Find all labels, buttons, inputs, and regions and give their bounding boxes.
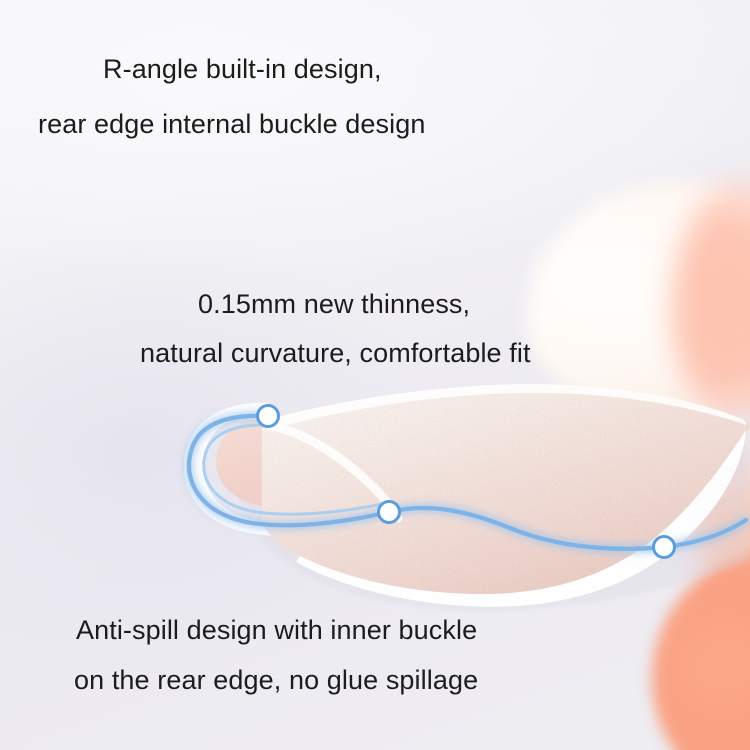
caption-top-line-2: rear edge internal buckle design bbox=[38, 103, 425, 145]
caption-bottom-line-1: Anti-spill design with inner buckle bbox=[76, 609, 477, 651]
marker-inner-buckle[interactable] bbox=[379, 502, 400, 523]
caption-top-line-1: R-angle built-in design, bbox=[103, 48, 382, 90]
marker-rear-edge[interactable] bbox=[654, 537, 675, 558]
caption-middle-line-2: natural curvature, comfortable fit bbox=[140, 332, 531, 374]
marker-front-curl-tip[interactable] bbox=[258, 406, 279, 427]
caption-bottom-line-2: on the rear edge, no glue spillage bbox=[74, 659, 478, 701]
caption-middle-line-1: 0.15mm new thinness, bbox=[198, 283, 470, 325]
product-feature-image: R-angle built-in design, rear edge inter… bbox=[0, 0, 750, 750]
